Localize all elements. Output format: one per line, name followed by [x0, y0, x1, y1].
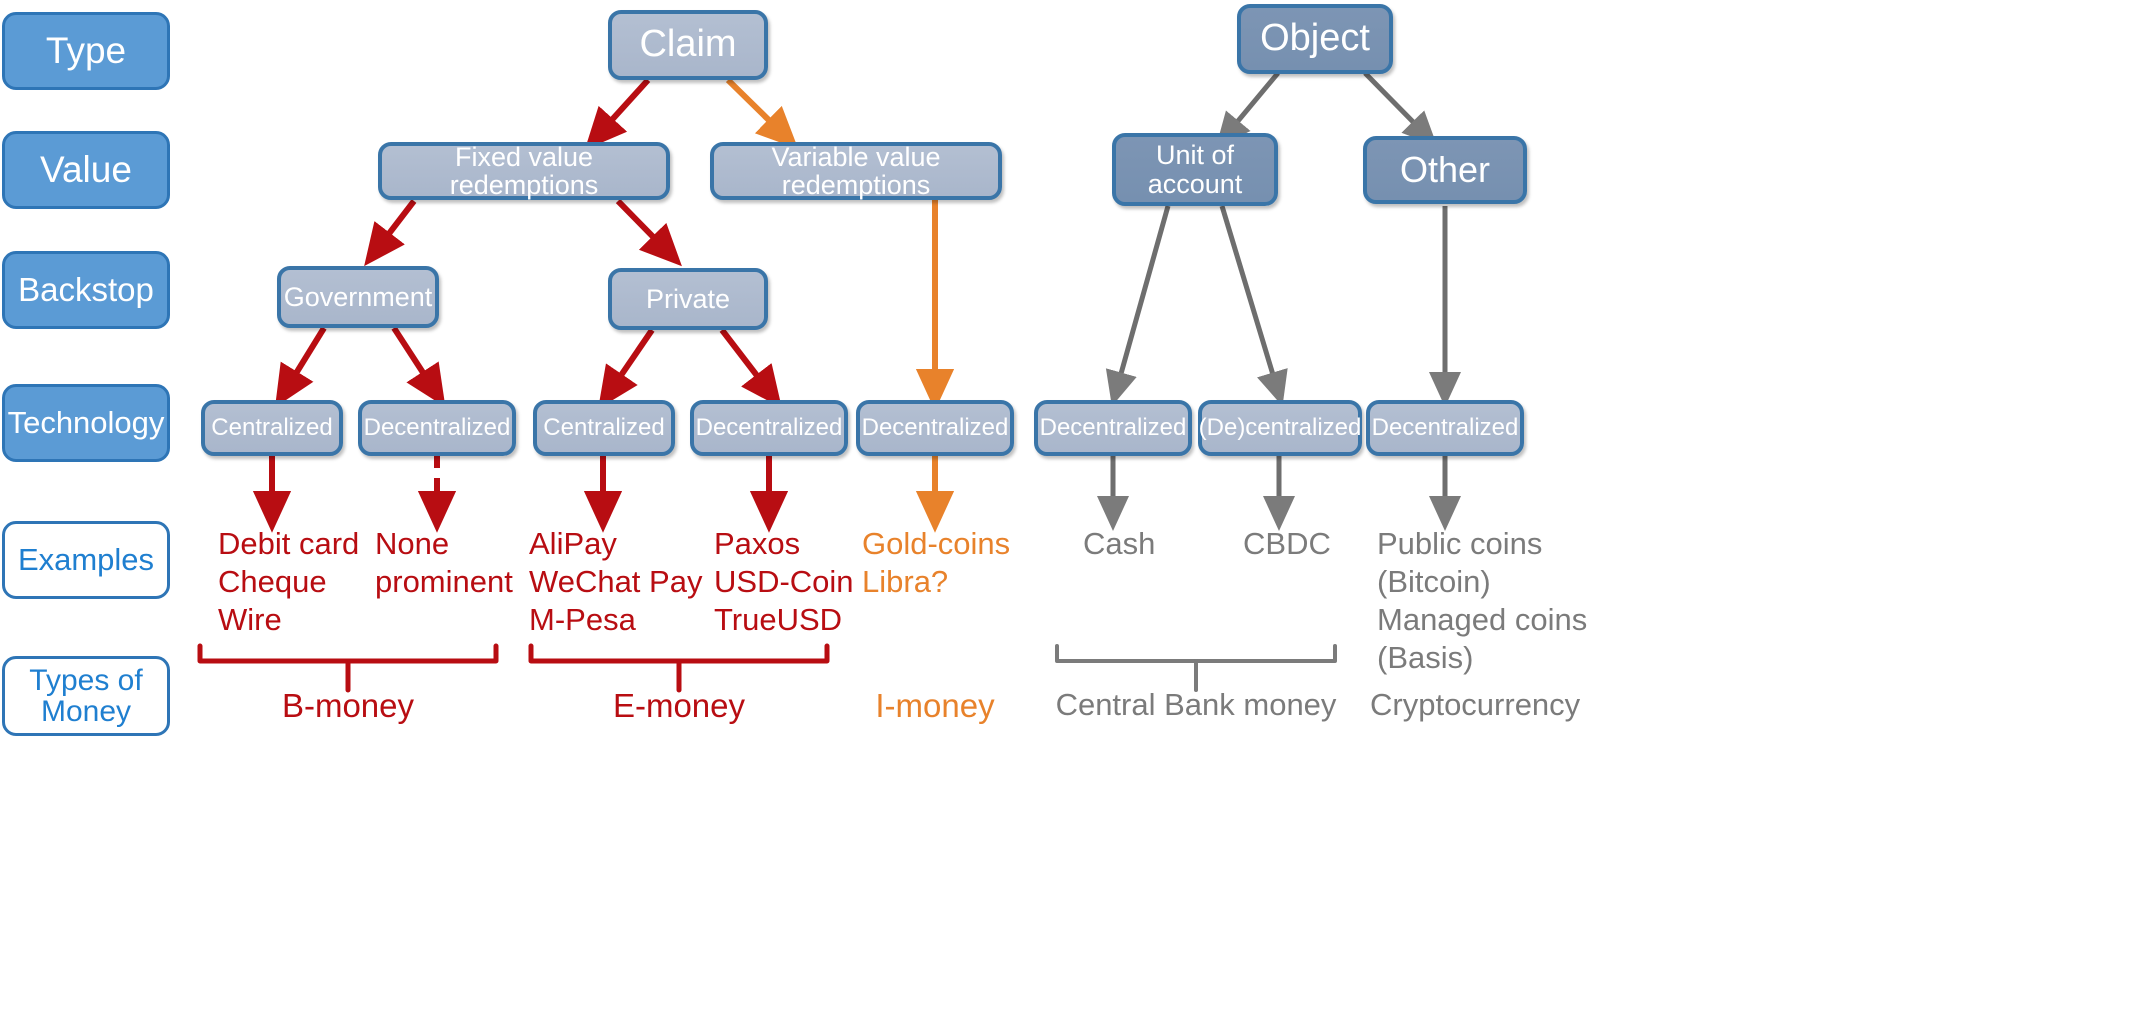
money-type-b-money: B-money [248, 688, 448, 724]
node-government[interactable]: Government [277, 266, 439, 328]
node-tech-decentralized-government[interactable]: Decentralized [358, 400, 516, 456]
edge-fixed-to-government [378, 201, 414, 248]
node-object-label: Object [1260, 19, 1370, 59]
node-claim-label: Claim [639, 25, 736, 65]
edge-government-to-decentralized [394, 328, 433, 388]
node-fixed-value-redemptions[interactable]: Fixed value redemptions [378, 142, 670, 200]
node-government-label: Government [284, 283, 433, 311]
edge-government-to-centralized [287, 328, 324, 388]
edge-object-to-other [1365, 73, 1424, 133]
money-type-cryptocurrency: Cryptocurrency [1370, 688, 1610, 722]
node-tech-decentralized-unit-of-account[interactable]: Decentralized [1034, 400, 1192, 456]
node-variable-value-redemptions[interactable]: Variable value redemptions [710, 142, 1002, 200]
node-variable-value-redemptions-label: Variable value redemptions [714, 143, 998, 200]
node-tech-centralized-government-label: Centralized [211, 415, 332, 440]
row-label-examples[interactable]: Examples [2, 521, 170, 599]
brace-b-money [200, 646, 496, 690]
node-other[interactable]: Other [1363, 136, 1527, 204]
money-type-e-money: E-money [579, 688, 779, 724]
row-label-value[interactable]: Value [2, 131, 170, 209]
edge-uoa-to-decentralized-2 [1222, 206, 1277, 388]
node-unit-of-account-label: Unit of account [1148, 141, 1243, 198]
edge-object-to-unit-of-account [1228, 73, 1278, 133]
row-label-backstop[interactable]: Backstop [2, 251, 170, 329]
row-label-value-text: Value [40, 151, 132, 190]
node-tech-decentralized-cbdc[interactable]: (De)centralized [1198, 400, 1362, 456]
edge-private-to-decentralized [722, 330, 768, 390]
edge-private-to-centralized [611, 330, 652, 390]
edge-claim-to-fixed-value [600, 80, 648, 133]
node-tech-decentralized-variable-label: Decentralized [862, 415, 1009, 440]
brace-e-money [531, 646, 827, 690]
edge-fixed-to-private [618, 201, 666, 250]
node-claim[interactable]: Claim [608, 10, 768, 80]
node-tech-decentralized-other-label: Decentralized [1372, 415, 1519, 440]
money-type-i-money: I-money [835, 688, 1035, 724]
node-object[interactable]: Object [1237, 4, 1393, 74]
node-tech-decentralized-unit-of-account-label: Decentralized [1040, 415, 1187, 440]
row-label-types-of-money-text: Types of Money [29, 665, 142, 728]
node-other-label: Other [1400, 151, 1490, 189]
row-label-type[interactable]: Type [2, 12, 170, 90]
node-tech-centralized-private[interactable]: Centralized [533, 400, 675, 456]
node-unit-of-account[interactable]: Unit of account [1112, 133, 1278, 206]
node-tech-centralized-government[interactable]: Centralized [201, 400, 343, 456]
row-label-backstop-text: Backstop [18, 273, 154, 308]
edge-claim-to-variable-value [728, 80, 782, 133]
connector-layer [0, 0, 2145, 1033]
examples-cryptocurrency: Public coins (Bitcoin) Managed coins (Ba… [1377, 525, 1607, 678]
row-label-technology[interactable]: Technology [2, 384, 170, 462]
diagram-canvas: Type Value Backstop Technology Examples … [0, 0, 2145, 1033]
node-tech-decentralized-other[interactable]: Decentralized [1366, 400, 1524, 456]
row-label-type-text: Type [46, 32, 126, 71]
node-private-label: Private [646, 285, 730, 313]
row-label-types-of-money[interactable]: Types of Money [2, 656, 170, 736]
node-private[interactable]: Private [608, 268, 768, 330]
node-tech-decentralized-private[interactable]: Decentralized [690, 400, 848, 456]
node-tech-decentralized-variable[interactable]: Decentralized [856, 400, 1014, 456]
node-tech-decentralized-private-label: Decentralized [696, 415, 843, 440]
node-tech-decentralized-cbdc-label: (De)centralized [1199, 415, 1362, 440]
row-label-technology-text: Technology [8, 407, 165, 440]
node-tech-centralized-private-label: Centralized [543, 415, 664, 440]
money-type-central-bank-money: Central Bank money [1041, 688, 1351, 722]
row-label-examples-text: Examples [18, 544, 154, 577]
examples-b-money-centralized: Debit card Cheque Wire [218, 525, 398, 639]
examples-cash: Cash [1083, 525, 1243, 563]
examples-i-money: Gold-coins Libra? [862, 525, 1052, 601]
edge-uoa-to-decentralized [1117, 206, 1168, 388]
node-fixed-value-redemptions-label: Fixed value redemptions [382, 143, 666, 200]
examples-b-money-decentralized: None prominent [375, 525, 555, 601]
node-tech-decentralized-government-label: Decentralized [364, 415, 511, 440]
brace-central-bank-money [1057, 646, 1335, 690]
examples-e-money-centralized: AliPay WeChat Pay M-Pesa [529, 525, 729, 639]
